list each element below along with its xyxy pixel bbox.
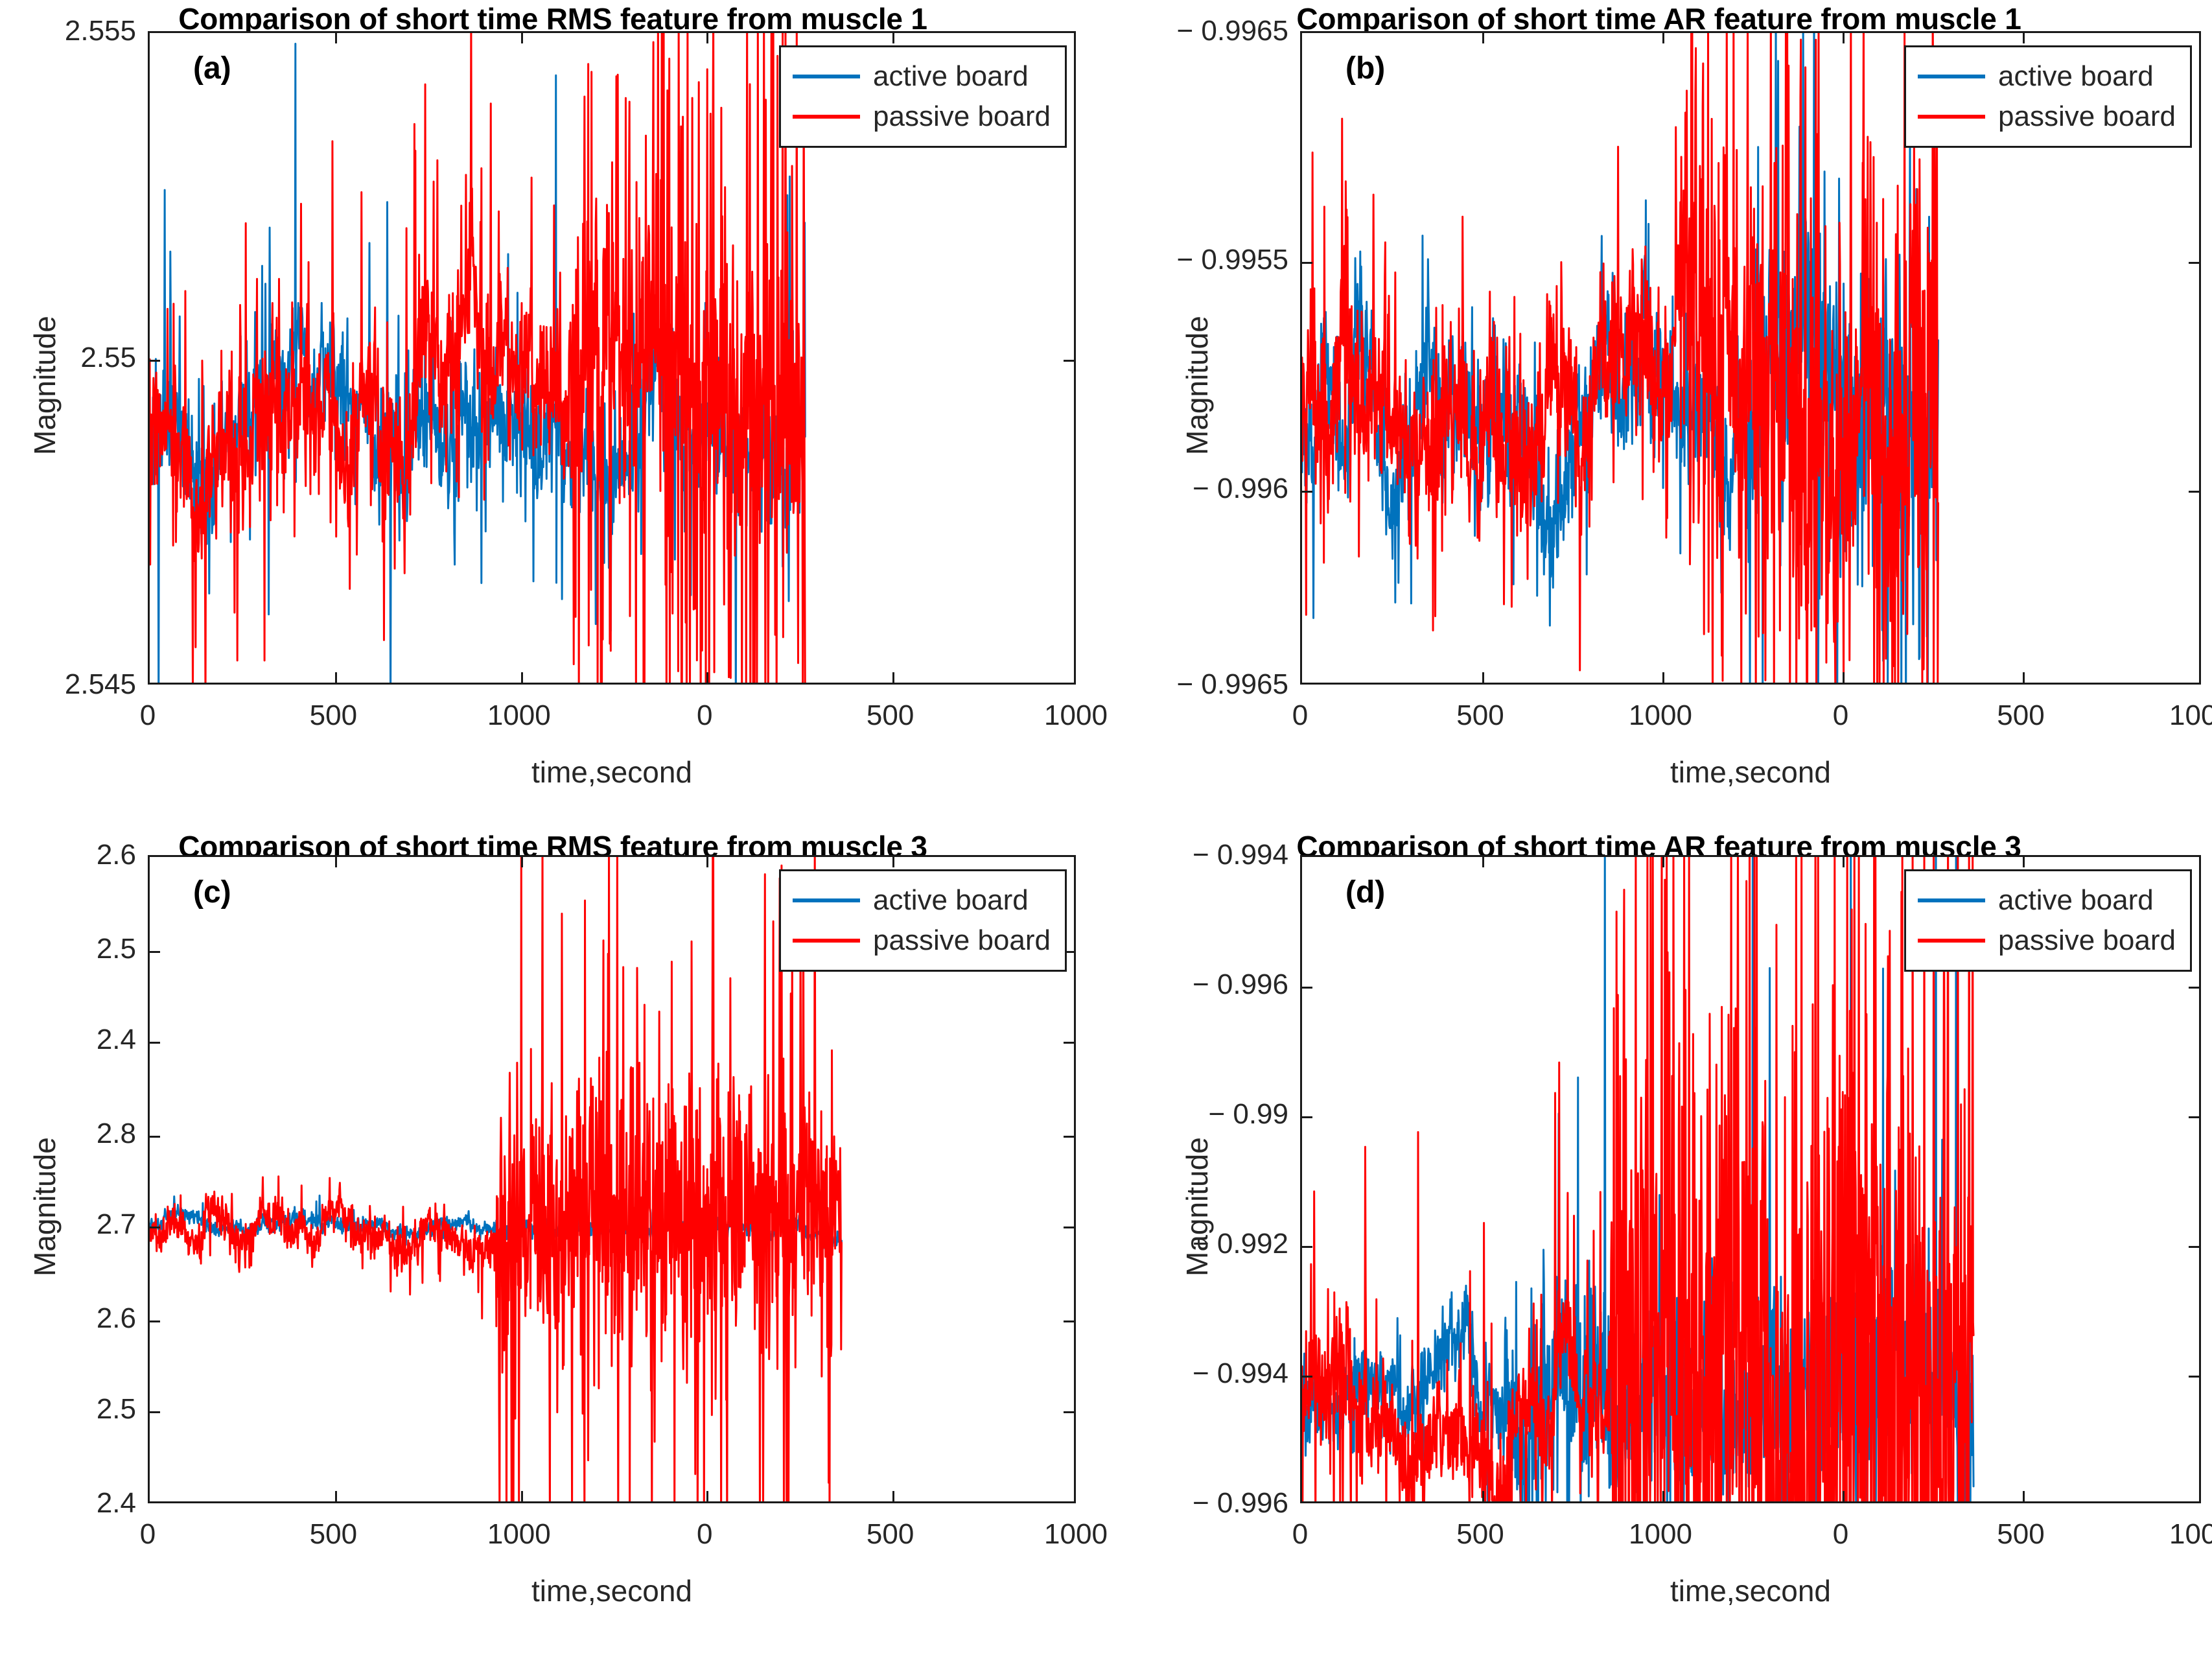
panel-a-xtick-label: 0	[697, 701, 712, 730]
panel-d-xtick-label: 500	[1997, 1520, 2044, 1549]
panel-d-xtick-mark	[1662, 857, 1664, 867]
panel-c-y-axis-label: Magnitude	[30, 1137, 60, 1276]
panel-a-y-axis-label: Magnitude	[30, 316, 60, 455]
panel-b-xtick-mark	[1662, 672, 1664, 683]
panel-a-x-axis-label: time,second	[148, 757, 1076, 787]
panel-d-x-axis-label: time,second	[1300, 1576, 2201, 1606]
panel-d-xtick-label: 500	[1456, 1520, 1504, 1549]
panel-d-ytick-label: − 0.99	[1208, 1100, 1288, 1129]
panel-a-xtick-label: 500	[867, 701, 914, 730]
panel-c-ytick-mark	[150, 1227, 160, 1228]
panel-a-xtick-mark	[706, 672, 708, 683]
panel-d: Comparison of short time AR feature from…	[1106, 828, 2212, 1655]
panel-a-xtick-label: 0	[140, 701, 156, 730]
panel-c-ytick-mark	[1064, 1136, 1074, 1138]
legend-item-active-board[interactable]: active board	[1918, 880, 2176, 921]
panel-a-xtick-label: 500	[310, 701, 357, 730]
panel-c-xtick-mark	[706, 1491, 708, 1501]
panel-c-ytick-mark	[1064, 1320, 1074, 1322]
panel-a-ytick-mark	[1064, 360, 1074, 362]
panel-a-xtick-mark	[521, 672, 523, 683]
panel-c-ytick-label: 2.7	[97, 1210, 136, 1239]
legend-item-passive-board[interactable]: passive board	[793, 97, 1051, 137]
panel-b-ytick-mark	[2189, 262, 2199, 264]
panel-c-xtick-mark	[335, 1491, 337, 1501]
panel-b-xtick-label: 1000	[1629, 701, 1692, 730]
panel-b-letter: (b)	[1345, 53, 1385, 84]
panel-c-ytick-label: 2.8	[97, 1120, 136, 1148]
legend-item-active-board[interactable]: active board	[793, 56, 1051, 97]
panel-c-series-passive-board	[150, 857, 842, 1501]
legend-swatch-passive-board-icon	[1918, 115, 1985, 119]
panel-d-ytick-mark	[1302, 1246, 1312, 1248]
panel-a-ytick-label: 2.555	[65, 17, 136, 45]
legend-swatch-passive-board-icon	[793, 939, 860, 943]
panel-b-legend[interactable]: active boardpassive board	[1904, 45, 2192, 148]
panel-c-ytick-mark	[150, 951, 160, 953]
panel-c-ytick-mark	[1064, 1042, 1074, 1044]
legend-label: active board	[1998, 62, 2154, 91]
legend-item-passive-board[interactable]: passive board	[1918, 921, 2176, 961]
legend-swatch-passive-board-icon	[1918, 939, 1985, 943]
panel-c-xtick-label: 1000	[1044, 1520, 1108, 1549]
legend-label: passive board	[873, 102, 1051, 131]
panel-c-legend[interactable]: active boardpassive board	[779, 869, 1067, 972]
panel-d-xtick-label: 0	[1833, 1520, 1848, 1549]
legend-label: active board	[873, 62, 1029, 91]
panel-c-ytick-label: 2.5	[97, 1395, 136, 1424]
panel-d-xtick-label: 1000	[1629, 1520, 1692, 1549]
panel-c-xtick-label: 500	[310, 1520, 357, 1549]
panel-a-ytick-label: 2.545	[65, 670, 136, 699]
legend-item-active-board[interactable]: active board	[793, 880, 1051, 921]
panel-b-x-axis-label: time,second	[1300, 757, 2201, 787]
legend-label: active board	[873, 886, 1029, 915]
panel-b: Comparison of short time AR feature from…	[1106, 0, 2212, 828]
panel-b-xtick-label: 1000	[2169, 701, 2212, 730]
panel-b-xtick-mark	[1662, 33, 1664, 43]
panel-d-xtick-mark	[1843, 857, 1845, 867]
panel-c-ytick-mark	[150, 1320, 160, 1322]
panel-d-legend[interactable]: active boardpassive board	[1904, 869, 2192, 972]
panel-d-xtick-mark	[1482, 857, 1484, 867]
panel-b-xtick-label: 0	[1833, 701, 1848, 730]
panel-c-xtick-label: 0	[140, 1520, 156, 1549]
panel-d-ytick-label: − 0.996	[1193, 970, 1288, 999]
panel-c-ytick-mark	[150, 1136, 160, 1138]
panel-d-y-axis-label: Magnitude	[1182, 1137, 1212, 1276]
panel-d-xtick-mark	[2023, 1491, 2025, 1501]
panel-b-xtick-label: 500	[1456, 701, 1504, 730]
panel-c-xtick-mark	[521, 857, 523, 867]
legend-swatch-active-board-icon	[1918, 898, 1985, 902]
figure-canvas: Comparison of short time RMS feature fro…	[0, 0, 2212, 1655]
legend-item-passive-board[interactable]: passive board	[793, 921, 1051, 961]
panel-c-ytick-label: 2.4	[97, 1026, 136, 1054]
panel-c-ytick-mark	[1064, 1227, 1074, 1228]
panel-b-ytick-mark	[1302, 491, 1312, 493]
panel-a-xtick-mark	[521, 33, 523, 43]
panel-b-xtick-label: 500	[1997, 701, 2044, 730]
panel-d-letter: (d)	[1345, 877, 1385, 908]
panel-b-xtick-label: 0	[1292, 701, 1308, 730]
panel-d-ytick-label: − 0.996	[1193, 1489, 1288, 1518]
panel-c-xtick-mark	[892, 1491, 894, 1501]
legend-label: passive board	[873, 926, 1051, 955]
panel-d-ytick-mark	[2189, 987, 2199, 989]
panel-a-letter: (a)	[193, 53, 231, 84]
panel-d-xtick-label: 0	[1292, 1520, 1308, 1549]
panel-a-xtick-mark	[335, 672, 337, 683]
panel-b-xtick-mark	[1843, 672, 1845, 683]
panel-b-ytick-label: − 0.9965	[1177, 17, 1289, 45]
panel-a-ytick-label: 2.55	[80, 344, 136, 372]
legend-item-active-board[interactable]: active board	[1918, 56, 2176, 97]
panel-c-ytick-mark	[150, 1411, 160, 1413]
panel-b-ytick-label: − 0.9965	[1177, 670, 1289, 699]
legend-label: passive board	[1998, 102, 2176, 131]
legend-label: passive board	[1998, 926, 2176, 955]
panel-b-ytick-label: − 0.996	[1193, 475, 1288, 503]
panel-a-legend[interactable]: active boardpassive board	[779, 45, 1067, 148]
panel-c-xtick-label: 500	[867, 1520, 914, 1549]
panel-c-letter: (c)	[193, 877, 231, 908]
panel-d-ytick-mark	[1302, 1376, 1312, 1378]
panel-d-xtick-mark	[2023, 857, 2025, 867]
panel-d-xtick-label: 1000	[2169, 1520, 2212, 1549]
panel-d-xtick-mark	[1843, 1491, 1845, 1501]
panel-b-xtick-mark	[2023, 672, 2025, 683]
panel-b-ytick-label: − 0.9955	[1177, 246, 1289, 274]
panel-b-xtick-mark	[1482, 33, 1484, 43]
panel-c-ytick-label: 2.4	[97, 1489, 136, 1518]
legend-swatch-active-board-icon	[793, 898, 860, 902]
panel-c-xtick-mark	[706, 857, 708, 867]
panel-a-xtick-mark	[335, 33, 337, 43]
panel-c-xtick-label: 0	[697, 1520, 712, 1549]
panel-c-xtick-mark	[892, 857, 894, 867]
legend-swatch-passive-board-icon	[793, 115, 860, 119]
panel-b-ytick-mark	[1302, 262, 1312, 264]
panel-c-xtick-mark	[335, 857, 337, 867]
panel-a-xtick-mark	[706, 33, 708, 43]
panel-c-ytick-label: 2.5	[97, 935, 136, 963]
panel-c-xtick-label: 1000	[487, 1520, 551, 1549]
panel-d-ytick-label: − 0.994	[1193, 841, 1288, 869]
panel-d-xtick-mark	[1662, 1491, 1664, 1501]
panel-b-y-axis-label: Magnitude	[1182, 316, 1212, 455]
panel-a-ytick-mark	[150, 360, 160, 362]
legend-swatch-active-board-icon	[793, 75, 860, 78]
panel-b-xtick-mark	[1843, 33, 1845, 43]
panel-d-xtick-mark	[1482, 1491, 1484, 1501]
panel-d-ytick-mark	[1302, 987, 1312, 989]
legend-swatch-active-board-icon	[1918, 75, 1985, 78]
panel-b-ytick-mark	[2189, 491, 2199, 493]
panel-d-ytick-mark	[2189, 1116, 2199, 1118]
panel-c-x-axis-label: time,second	[148, 1576, 1076, 1606]
panel-c-xtick-mark	[521, 1491, 523, 1501]
panel-c-ytick-mark	[150, 1042, 160, 1044]
panel-a-xtick-label: 1000	[487, 701, 551, 730]
panel-a: Comparison of short time RMS feature fro…	[0, 0, 1106, 828]
panel-a-xtick-mark	[892, 672, 894, 683]
legend-item-passive-board[interactable]: passive board	[1918, 97, 2176, 137]
panel-b-xtick-mark	[1482, 672, 1484, 683]
panel-c: Comparison of short time RMS feature fro…	[0, 828, 1106, 1655]
panel-d-ytick-mark	[2189, 1246, 2199, 1248]
panel-a-series-passive-board	[150, 33, 805, 683]
panel-c-ytick-label: 2.6	[97, 1304, 136, 1333]
panel-d-ytick-label: − 0.994	[1193, 1359, 1288, 1388]
panel-c-ytick-label: 2.6	[97, 841, 136, 869]
panel-a-xtick-mark	[892, 33, 894, 43]
panel-d-ytick-mark	[2189, 1376, 2199, 1378]
panel-a-xtick-label: 1000	[1044, 701, 1108, 730]
panel-d-ytick-mark	[1302, 1116, 1312, 1118]
legend-label: active board	[1998, 886, 2154, 915]
panel-b-xtick-mark	[2023, 33, 2025, 43]
panel-c-ytick-mark	[1064, 1411, 1074, 1413]
panel-a-title: Comparison of short time RMS feature fro…	[0, 4, 1106, 34]
